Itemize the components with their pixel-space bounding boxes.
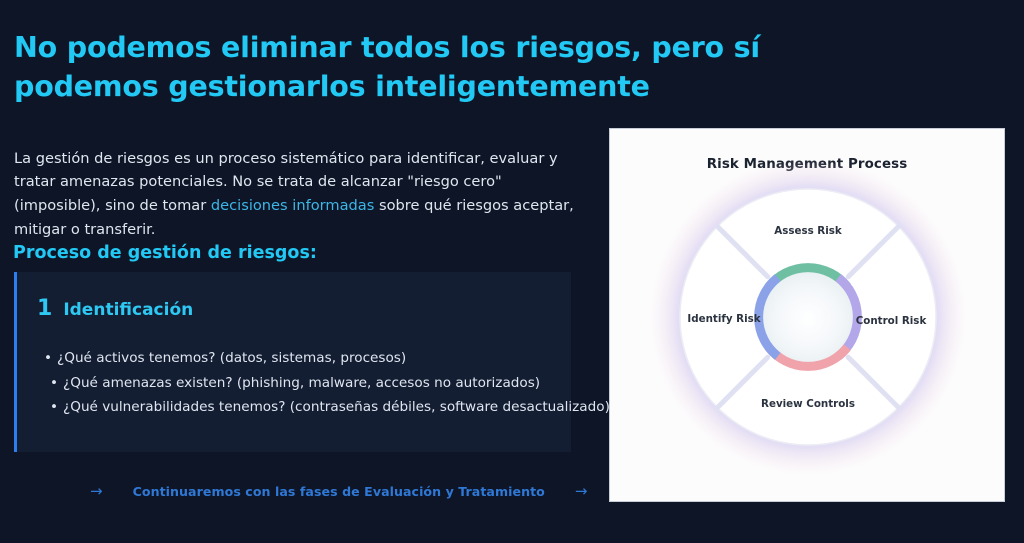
risk-management-wheel: Assess Risk Control Risk Review Controls… <box>610 129 1005 502</box>
process-heading: Proceso de gestión de riesgos: <box>13 243 317 263</box>
wheel-label-review-controls: Review Controls <box>761 398 855 410</box>
wheel-label-assess-risk: Assess Risk <box>774 225 842 237</box>
bullet-marker-icon: • <box>50 375 58 391</box>
diagram-panel: Risk Management Process <box>609 128 1005 502</box>
step-number: 1 <box>37 296 52 321</box>
intro-highlight: decisiones informadas <box>211 197 374 214</box>
bullet-marker-icon: • <box>50 399 58 415</box>
intro-paragraph: La gestión de riesgos es un proceso sist… <box>14 147 579 242</box>
arrow-right-icon: → <box>90 484 103 499</box>
wheel-svg <box>610 129 1005 502</box>
cta-label[interactable]: Continuaremos con las fases de Evaluació… <box>133 484 545 499</box>
bullet-marker-icon: • <box>44 350 52 366</box>
step-card: 1 Identificación •¿Qué activos tenemos? … <box>14 272 571 452</box>
arrow-right-icon: → <box>575 484 588 499</box>
step-title: Identificación <box>63 300 193 320</box>
step-bullet-list: •¿Qué activos tenemos? (datos, sistemas,… <box>44 346 564 420</box>
list-item: •¿Qué activos tenemos? (datos, sistemas,… <box>44 346 564 371</box>
wheel-label-control-risk: Control Risk <box>856 315 927 327</box>
wheel-label-identify-risk: Identify Risk <box>687 313 760 325</box>
cta-row[interactable]: → Continuaremos con las fases de Evaluac… <box>90 484 587 499</box>
page-title: No podemos eliminar todos los riesgos, p… <box>14 29 864 107</box>
list-item: •¿Qué amenazas existen? (phishing, malwa… <box>44 371 564 396</box>
list-item-text: ¿Qué activos tenemos? (datos, sistemas, … <box>57 350 406 366</box>
list-item: •¿Qué vulnerabilidades tenemos? (contras… <box>44 395 564 420</box>
list-item-text: ¿Qué vulnerabilidades tenemos? (contrase… <box>63 399 610 415</box>
step-card-header: 1 Identificación <box>37 296 193 321</box>
list-item-text: ¿Qué amenazas existen? (phishing, malwar… <box>63 375 540 391</box>
